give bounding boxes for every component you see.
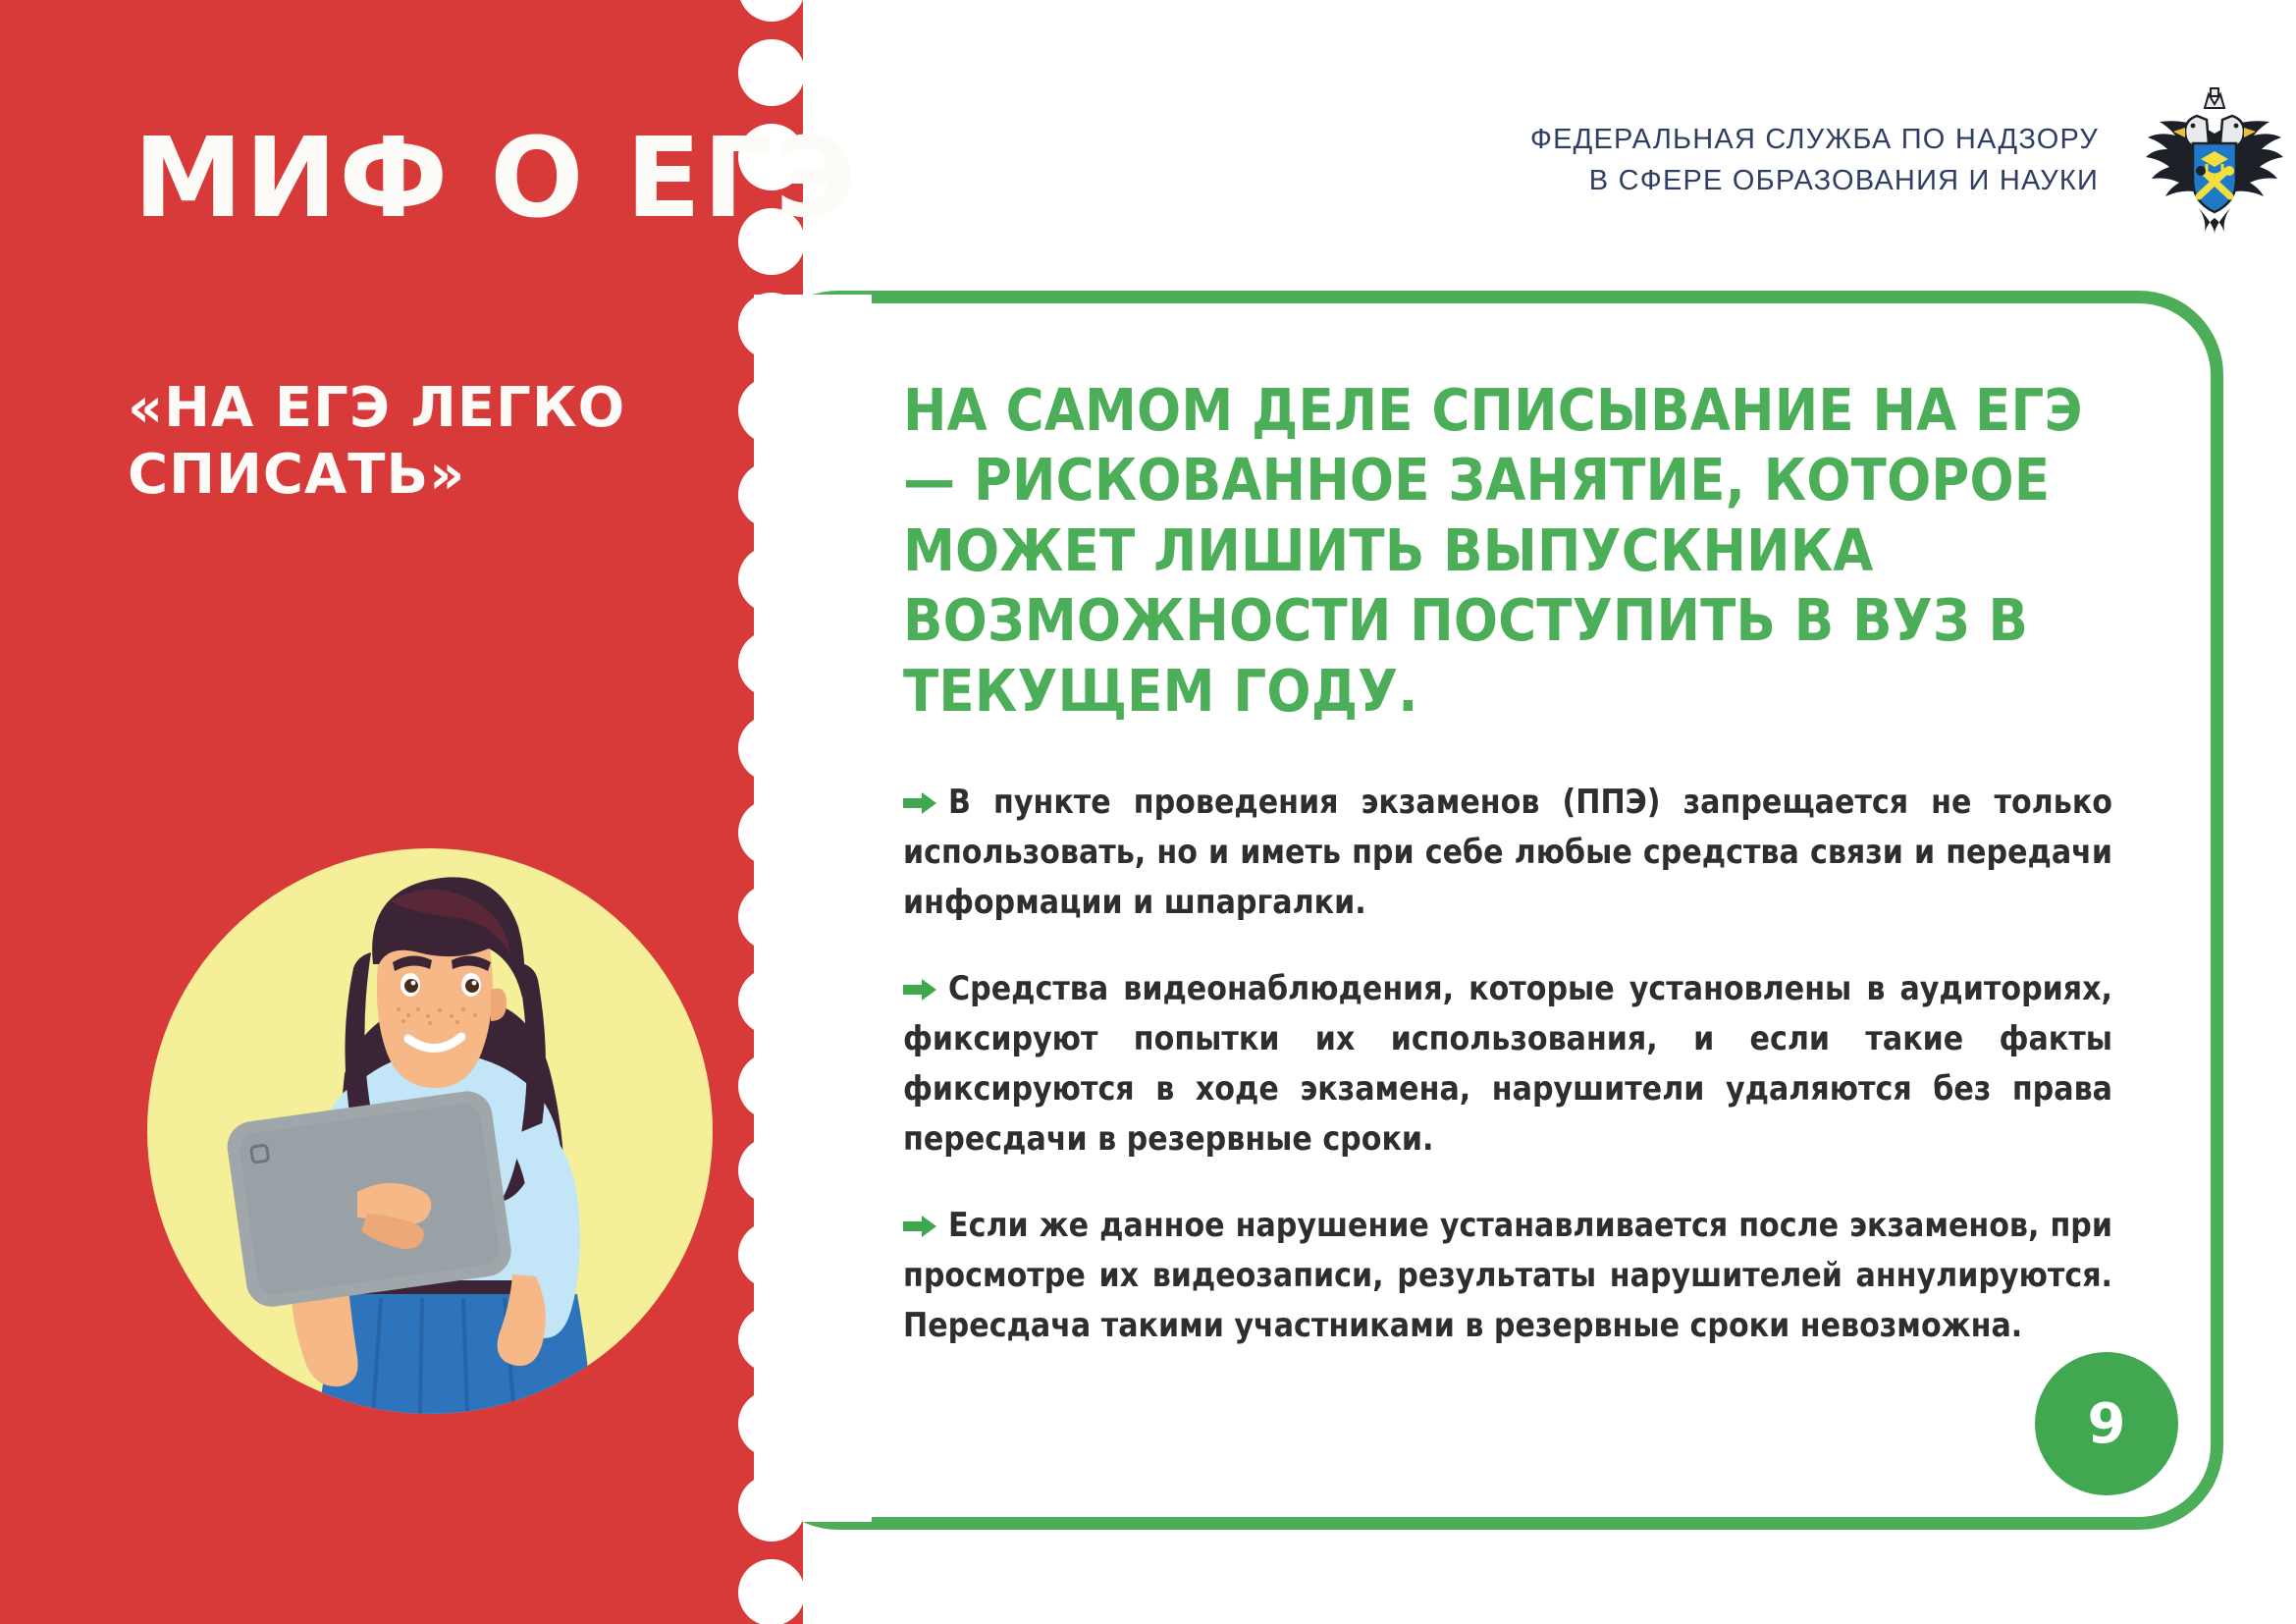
page-number-badge: 9 bbox=[2035, 1352, 2178, 1495]
list-item: Если же данное нарушение устанавливается… bbox=[903, 1200, 2112, 1351]
main-content: НА САМОМ ДЕЛЕ СПИСЫВАНИЕ НА ЕГЭ — РИСКОВ… bbox=[903, 375, 2112, 1350]
lead-statement: НА САМОМ ДЕЛЕ СПИСЫВАНИЕ НА ЕГЭ — РИСКОВ… bbox=[903, 375, 2112, 726]
org-name: ФЕДЕРАЛЬНАЯ СЛУЖБА ПО НАДЗОРУ В СФЕРЕ ОБ… bbox=[1530, 119, 2099, 201]
org-name-line-1: ФЕДЕРАЛЬНАЯ СЛУЖБА ПО НАДЗОРУ bbox=[1530, 119, 2099, 160]
list-item: В пункте проведения экзаменов (ППЭ) запр… bbox=[903, 777, 2112, 928]
double-headed-eagle-icon bbox=[2132, 86, 2296, 234]
girl-with-tablet-illustration bbox=[145, 846, 715, 1416]
org-header: ФЕДЕРАЛЬНАЯ СЛУЖБА ПО НАДЗОРУ В СФЕРЕ ОБ… bbox=[1296, 86, 2296, 234]
list-item: Средства видеонаблюдения, которые устано… bbox=[903, 963, 2112, 1164]
arrow-right-icon bbox=[903, 965, 936, 989]
green-panel-left-mask bbox=[754, 295, 872, 1522]
myth-subtitle: «НА ЕГЭ ЛЕГКО СПИСАТЬ» bbox=[128, 375, 736, 510]
org-name-line-2: В СФЕРЕ ОБРАЗОВАНИЯ И НАУКИ bbox=[1530, 160, 2099, 201]
emblem-svg bbox=[2132, 86, 2296, 234]
arrow-right-icon bbox=[903, 779, 936, 802]
illustration-svg bbox=[145, 846, 715, 1416]
arrow-right-icon bbox=[903, 1202, 936, 1225]
list-item-text: Если же данное нарушение устанавливается… bbox=[903, 1206, 2112, 1345]
list-item-text: Средства видеонаблюдения, которые устано… bbox=[903, 969, 2112, 1159]
page-title: МИФ О ЕГЭ bbox=[133, 124, 858, 234]
infographic-page: МИФ О ЕГЭ «НА ЕГЭ ЛЕГКО СПИСАТЬ» bbox=[0, 0, 2296, 1624]
list-item-text: В пункте проведения экзаменов (ППЭ) запр… bbox=[903, 783, 2112, 922]
